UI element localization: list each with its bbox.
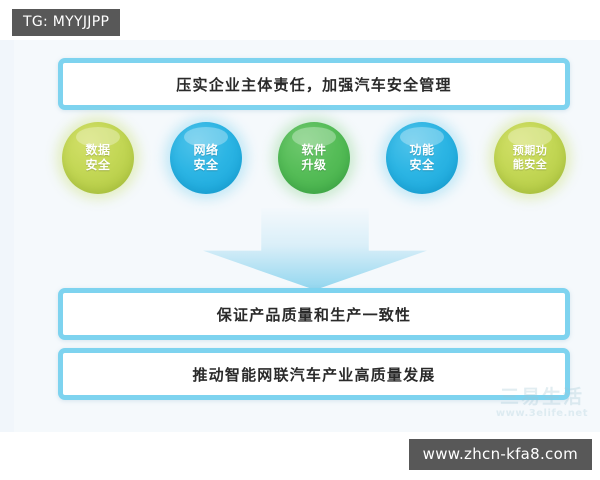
circle-shape: 预期功 能安全 xyxy=(494,122,566,194)
middle-outcome-text: 保证产品质量和生产一致性 xyxy=(217,304,411,325)
circle-label-line2: 升级 xyxy=(301,158,326,172)
tg-badge: TG: MYYJJPP xyxy=(12,9,120,36)
circle-label: 预期功 能安全 xyxy=(513,144,548,172)
circle-label-line2: 能安全 xyxy=(513,158,548,171)
slide-canvas: 压实企业主体责任，加强汽车安全管理 数据 安全 网络 安全 软件 xyxy=(0,40,600,432)
circle-shape: 软件 升级 xyxy=(278,122,350,194)
circle-label-line1: 数据 xyxy=(85,143,110,157)
circle-label-line2: 安全 xyxy=(85,158,110,172)
circle-label-line1: 软件 xyxy=(301,143,326,157)
watermark-url: www.3elife.net xyxy=(496,408,588,420)
circle-shape: 功能 安全 xyxy=(386,122,458,194)
category-circle-sotif[interactable]: 预期功 能安全 xyxy=(490,118,570,198)
circle-label-line1: 网络 xyxy=(193,143,218,157)
circle-label: 网络 安全 xyxy=(193,143,218,173)
bottom-outcome-panel: 推动智能网联汽车产业高质量发展 xyxy=(58,348,570,400)
top-statement-panel: 压实企业主体责任，加强汽车安全管理 xyxy=(58,58,570,110)
category-circle-software-update[interactable]: 软件 升级 xyxy=(274,118,354,198)
bottom-outcome-text: 推动智能网联汽车产业高质量发展 xyxy=(192,364,435,385)
slide-left-gutter xyxy=(0,40,14,432)
middle-outcome-panel: 保证产品质量和生产一致性 xyxy=(58,288,570,340)
category-circle-network-security[interactable]: 网络 安全 xyxy=(166,118,246,198)
circle-label: 软件 升级 xyxy=(301,143,326,173)
circle-label-line1: 功能 xyxy=(409,143,434,157)
category-circle-data-security[interactable]: 数据 安全 xyxy=(58,118,138,198)
circle-label: 数据 安全 xyxy=(85,143,110,173)
circle-label: 功能 安全 xyxy=(409,143,434,173)
circle-label-line2: 安全 xyxy=(409,158,434,172)
circle-label-line1: 预期功 xyxy=(513,144,548,157)
circle-shape: 数据 安全 xyxy=(62,122,134,194)
top-statement-text: 压实企业主体责任，加强汽车安全管理 xyxy=(176,74,451,95)
circle-shape: 网络 安全 xyxy=(170,122,242,194)
category-circle-functional-safety[interactable]: 功能 安全 xyxy=(382,118,462,198)
site-url-bar: www.zhcn-kfa8.com xyxy=(409,439,592,470)
circle-label-line2: 安全 xyxy=(193,158,218,172)
down-arrow-icon xyxy=(203,208,427,290)
category-circle-row: 数据 安全 网络 安全 软件 升级 xyxy=(58,118,570,198)
